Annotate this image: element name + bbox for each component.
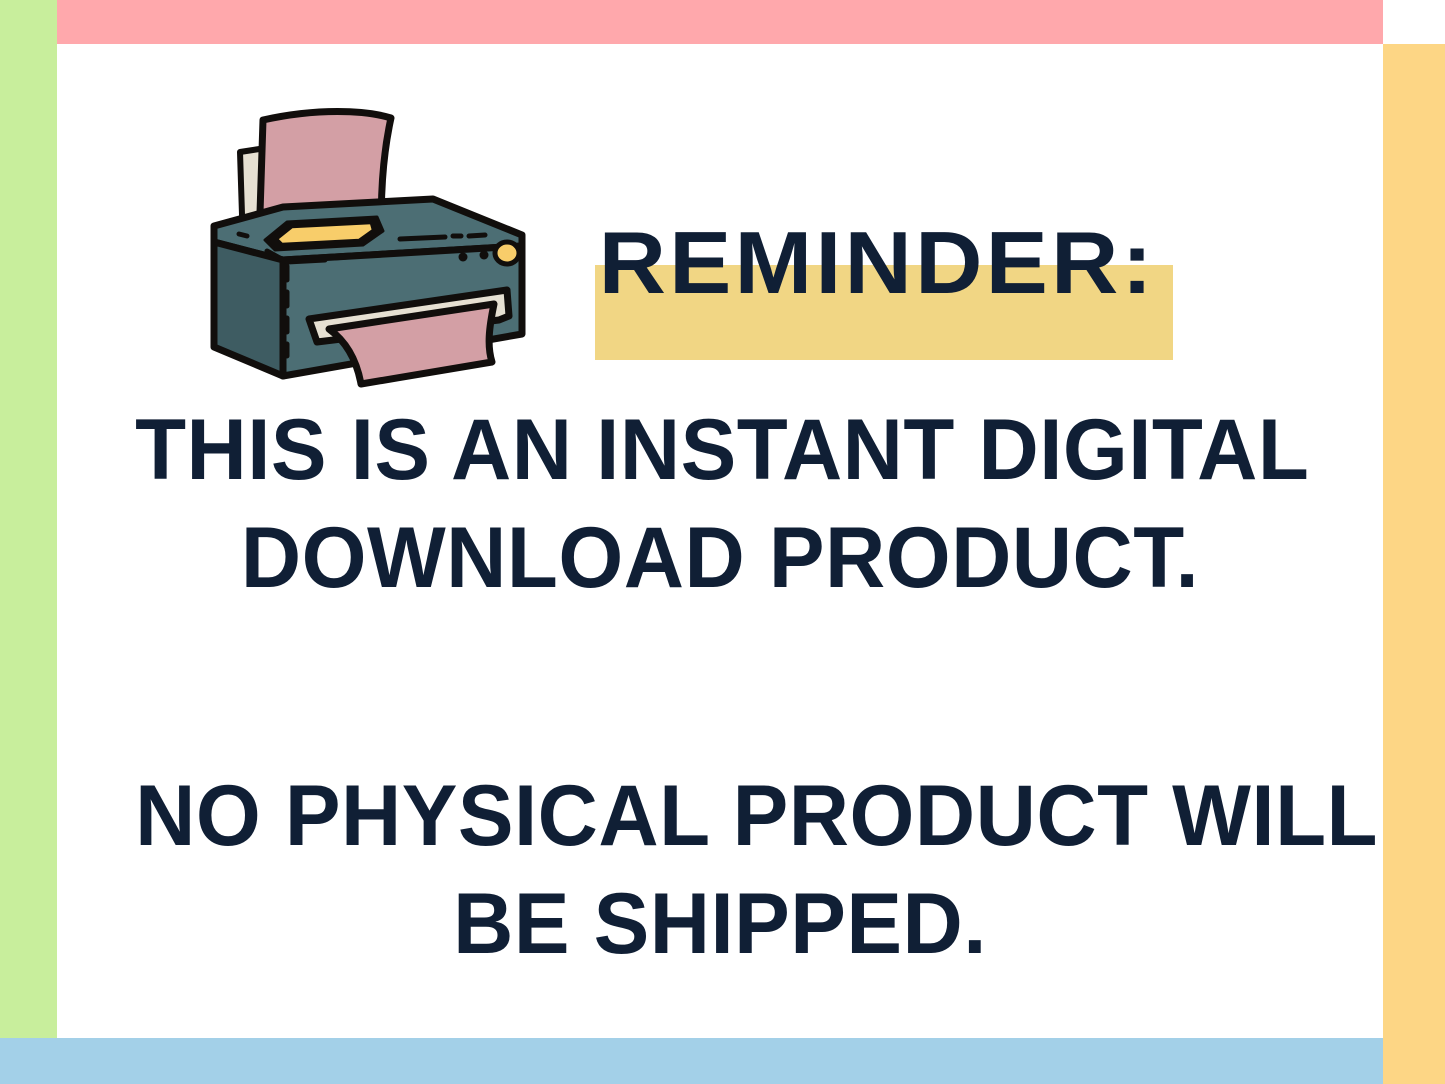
top-border-bar <box>57 0 1383 44</box>
heading-block: REMINDER: <box>538 204 1178 404</box>
body-line: DOWNLOAD PRODUCT. <box>135 504 1305 612</box>
poster-canvas: REMINDER: THIS IS AN INSTANT DIGITAL DOW… <box>0 0 1445 1084</box>
body-line: BE SHIPPED. <box>135 870 1305 978</box>
body-line: NO PHYSICAL PRODUCT WILL <box>135 762 1305 870</box>
poster-card: REMINDER: THIS IS AN INSTANT DIGITAL DOW… <box>57 44 1383 1038</box>
bottom-border-bar <box>0 1038 1383 1084</box>
right-border-bar <box>1383 44 1445 1084</box>
left-border-bar <box>0 0 57 1038</box>
printer-icon <box>187 94 567 394</box>
body-line: THIS IS AN INSTANT DIGITAL <box>135 396 1305 504</box>
body-copy: THIS IS AN INSTANT DIGITAL DOWNLOAD PROD… <box>117 396 1323 978</box>
page-title: REMINDER: <box>538 204 1216 322</box>
paragraph-gap <box>117 612 1323 762</box>
